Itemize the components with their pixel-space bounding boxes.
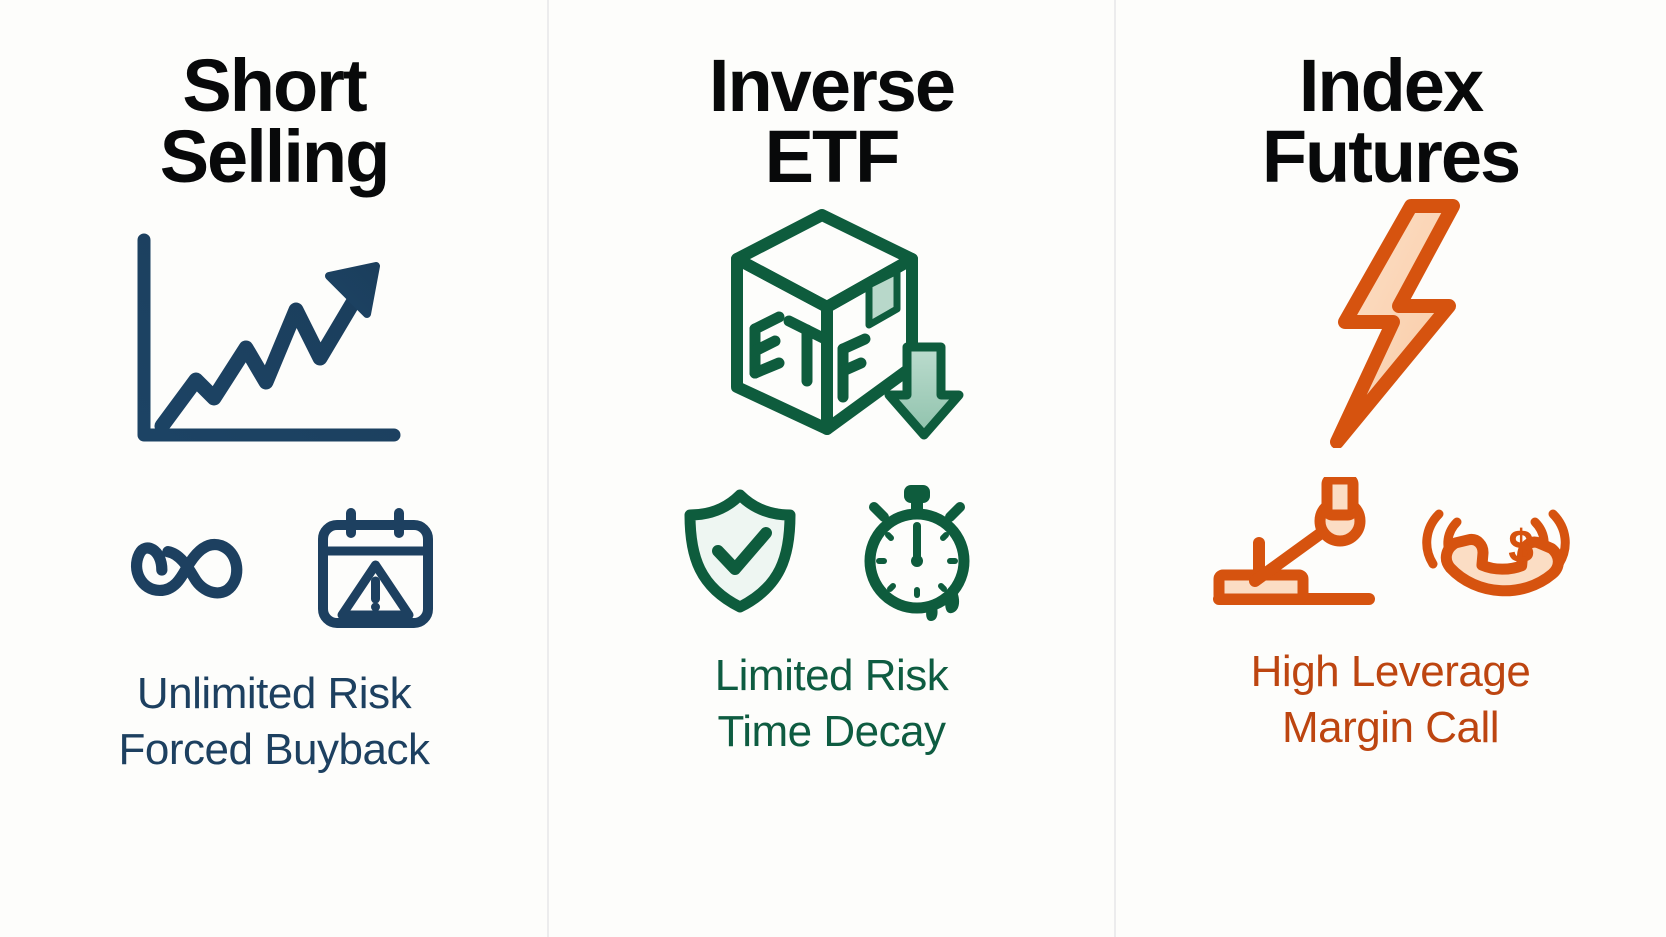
panel-title-index-futures: Index Futures [1262,50,1519,192]
hero-icon-container [548,202,1115,452]
panel-inverse-etf: Inverse ETF [548,0,1115,937]
dollar-sign-icon: $ [1508,520,1534,572]
lever-fulcrum-icon [1209,477,1379,617]
panel-short-selling: Short Selling [0,0,548,937]
panel-title-inverse-etf: Inverse ETF [709,50,954,192]
caption-index-futures: High Leverage Margin Call [1251,644,1531,757]
calendar-warning-icon [313,507,438,632]
shield-check-icon [680,487,800,615]
infographic-root: Short Selling [0,0,1666,937]
ringing-phone-dollar-icon: $ [1417,480,1572,615]
rising-chart-arrow-icon [124,230,424,460]
etf-box-down-arrow-icon [697,197,967,457]
sub-icons-short-selling [111,494,438,644]
sub-icons-inverse-etf [680,476,983,626]
sub-icons-index-futures: $ [1209,472,1572,622]
infinity-icon [111,517,251,622]
svg-text:$: $ [1508,520,1534,572]
caption-inverse-etf: Limited Risk Time Decay [715,648,949,761]
melting-stopwatch-icon [848,481,983,621]
panel-index-futures: Index Futures [1115,0,1666,937]
down-arrow-icon [889,347,959,435]
hero-icon-container [0,220,548,470]
caption-short-selling: Unlimited Risk Forced Buyback [119,666,430,779]
hero-icon-container [1115,198,1666,448]
lightning-bolt-icon [1301,198,1481,448]
panel-title-short-selling: Short Selling [160,50,389,192]
